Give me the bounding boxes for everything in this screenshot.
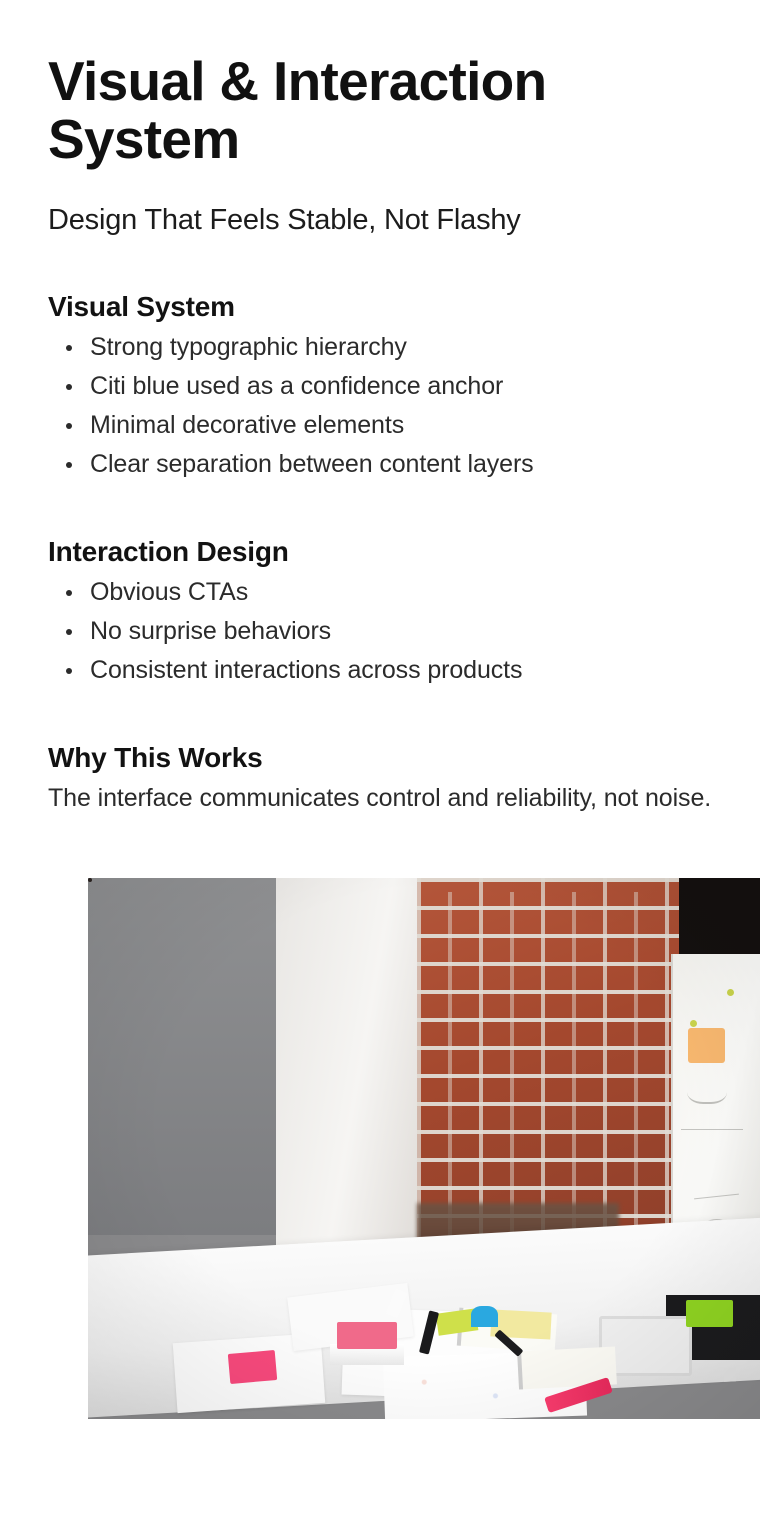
team-collaboration-photo <box>88 878 760 1419</box>
whiteboard-line <box>681 1129 742 1130</box>
list-item: Consistent interactions across products <box>48 651 720 690</box>
background-gray-wall <box>88 878 290 1235</box>
list-item: Strong typographic hierarchy <box>48 328 720 367</box>
bullet-list-visual-system: Strong typographic hierarchy Citi blue u… <box>48 328 720 484</box>
green-desk-object <box>686 1300 733 1327</box>
section-interaction-design: Interaction Design Obvious CTAs No surpr… <box>48 484 720 690</box>
pink-sticky-note <box>228 1350 277 1384</box>
pink-sticky-note <box>337 1322 397 1349</box>
whiteboard-scribble <box>687 1075 727 1104</box>
whiteboard-dot <box>690 1020 697 1027</box>
section-visual-system: Visual System Strong typographic hierarc… <box>48 237 720 484</box>
list-item: Obvious CTAs <box>48 573 720 612</box>
desk-leg <box>724 1367 736 1382</box>
list-item: Clear separation between content layers <box>48 445 720 484</box>
page-subtitle: Design That Feels Stable, Not Flashy <box>48 169 720 238</box>
bullet-list-interaction-design: Obvious CTAs No surprise behaviors Consi… <box>48 573 720 690</box>
section-why-this-works: Why This Works The interface communicate… <box>48 690 720 818</box>
why-this-works-body: The interface communicates control and r… <box>48 779 720 818</box>
page-title: Visual & Interaction System <box>48 0 668 169</box>
whiteboard-orange-note <box>688 1028 725 1063</box>
list-item: No surprise behaviors <box>48 612 720 651</box>
section-heading-why-this-works: Why This Works <box>48 740 720 775</box>
section-heading-visual-system: Visual System <box>48 289 720 324</box>
slide-page: Visual & Interaction System Design That … <box>0 0 768 1531</box>
list-item: Citi blue used as a confidence anchor <box>48 367 720 406</box>
background-white-pillar <box>276 878 424 1257</box>
whiteboard-line <box>694 1193 739 1199</box>
list-item: Minimal decorative elements <box>48 406 720 445</box>
blue-clip <box>471 1306 498 1328</box>
background-brick-wall <box>417 878 699 1246</box>
whiteboard-dot <box>727 989 734 996</box>
photo-canvas <box>88 878 760 1419</box>
section-heading-interaction-design: Interaction Design <box>48 534 720 569</box>
